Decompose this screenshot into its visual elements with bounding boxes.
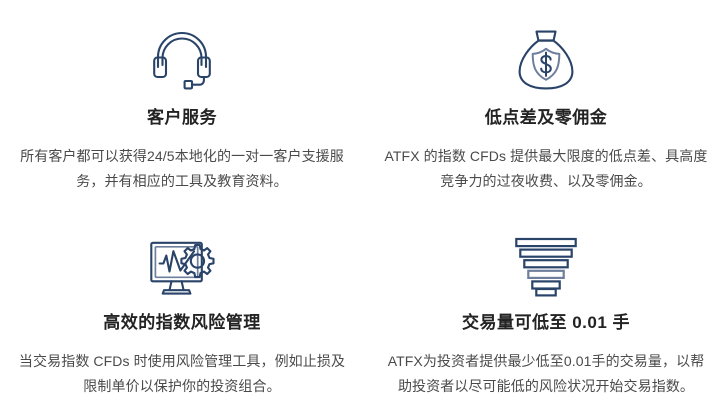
feature-card-low-spread: 低点差及零佣金 ATFX 的指数 CFDs 提供最大限度的低点差、具高度竞争力的… — [364, 0, 728, 207]
feature-body: 当交易指数 CFDs 时使用风险管理工具，例如止损及限制单价以保护你的投资组合。 — [17, 349, 347, 398]
feature-title: 低点差及零佣金 — [485, 108, 608, 128]
feature-title: 交易量可低至 0.01 手 — [462, 313, 630, 333]
feature-body: 所有客户都可以获得24/5本地化的一对一客户支援服务，并有相应的工具及教育资料。 — [17, 144, 347, 193]
feature-title: 高效的指数风险管理 — [103, 313, 261, 333]
feature-title: 客户服务 — [147, 108, 217, 128]
monitor-chart-gear-icon — [149, 233, 215, 301]
money-bag-shield-dollar-icon — [517, 26, 575, 94]
headset-icon — [151, 26, 213, 94]
features-grid: 客户服务 所有客户都可以获得24/5本地化的一对一客户支援服务，并有相应的工具及… — [0, 0, 728, 413]
funnel-bars-icon — [515, 233, 577, 301]
feature-card-risk-management: 高效的指数风险管理 当交易指数 CFDs 时使用风险管理工具，例如止损及限制单价… — [0, 207, 364, 413]
feature-body: ATFX为投资者提供最少低至0.01手的交易量，以帮助投资者以尽可能低的风险状况… — [381, 349, 711, 398]
feature-card-customer-service: 客户服务 所有客户都可以获得24/5本地化的一对一客户支援服务，并有相应的工具及… — [0, 0, 364, 207]
feature-body: ATFX 的指数 CFDs 提供最大限度的低点差、具高度竞争力的过夜收费、以及零… — [381, 144, 711, 193]
feature-card-min-lot: 交易量可低至 0.01 手 ATFX为投资者提供最少低至0.01手的交易量，以帮… — [364, 207, 728, 413]
